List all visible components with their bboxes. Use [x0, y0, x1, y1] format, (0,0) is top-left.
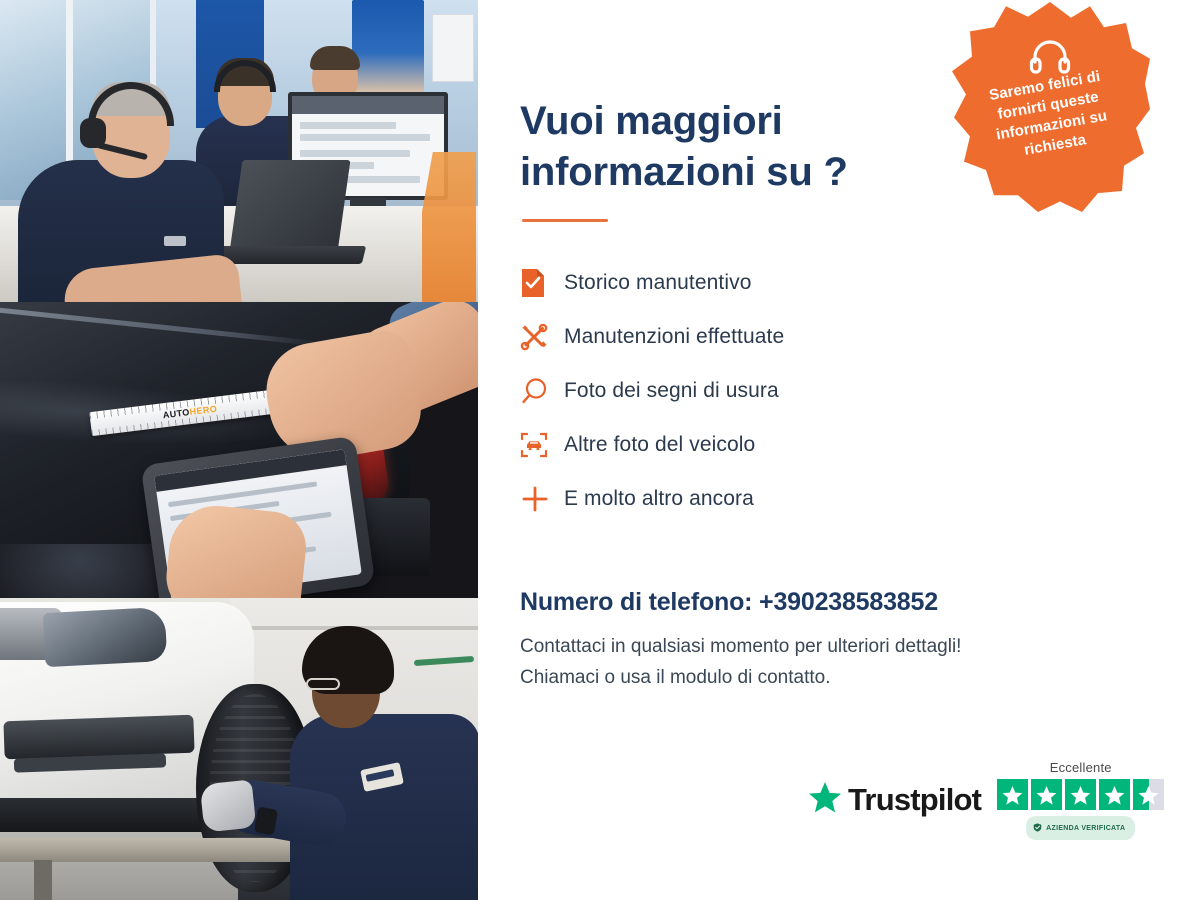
star-filled-2	[1031, 779, 1062, 810]
trustpilot-brand: Trustpilot	[808, 781, 981, 819]
feature-label: Manutenzioni effettuate	[564, 325, 784, 349]
trustpilot-rating-label: Eccellente	[1050, 760, 1112, 775]
contact-block: Numero di telefono: +390238583852 Contat…	[520, 588, 1200, 694]
tools-cross-icon	[520, 323, 564, 351]
contact-copy-line-1: Contattaci in qualsiasi momento per ulte…	[520, 632, 1140, 663]
trustpilot-wordmark: Trustpilot	[848, 782, 981, 818]
document-check-icon	[520, 268, 564, 298]
feature-item-molto-altro: E molto altro ancora	[520, 472, 1200, 526]
trustpilot-star-logo-icon	[808, 781, 842, 819]
call-center-agents-photo	[0, 0, 478, 302]
headline-line-2: informazioni su ?	[520, 150, 848, 194]
trustpilot-widget[interactable]: Trustpilot Eccellente	[808, 760, 1164, 840]
feature-label: Altre foto del veicolo	[564, 433, 755, 457]
feature-item-storico-manutentivo: Storico manutentivo	[520, 256, 1200, 310]
request-info-badge: Saremo felici di fornirti queste informa…	[950, 2, 1150, 212]
feature-label: Storico manutentivo	[564, 271, 752, 295]
photo-column: AUTOHERO	[0, 0, 478, 900]
star-filled-4	[1099, 779, 1130, 810]
magnifier-icon	[520, 377, 564, 405]
star-filled-1	[997, 779, 1028, 810]
phone-number-label[interactable]: Numero di telefono: +390238583852	[520, 588, 1200, 617]
star-half-5	[1133, 779, 1164, 810]
verified-badge-text: AZIENDA VERIFICATA	[1046, 825, 1125, 832]
vehicle-inspection-photo: AUTOHERO	[0, 302, 478, 598]
feature-label: E molto altro ancora	[564, 487, 754, 511]
content-panel: Vuoi maggiori informazioni su ? Storico …	[478, 0, 1200, 900]
car-scan-frame-icon	[520, 431, 564, 459]
title-divider	[522, 219, 608, 222]
contact-copy: Contattaci in qualsiasi momento per ulte…	[520, 632, 1140, 694]
feature-item-foto-segni-usura: Foto dei segni di usura	[520, 364, 1200, 418]
shield-check-icon	[1033, 819, 1042, 837]
feature-item-altre-foto-veicolo: Altre foto del veicolo	[520, 418, 1200, 472]
status-badge: AZIENDA VERIFICATA	[1026, 816, 1135, 840]
contact-copy-line-2: Chiamaci o usa il modulo di contatto.	[520, 663, 1140, 694]
promo-banner: AUTOHERO	[0, 0, 1200, 900]
mechanic-wheel-photo	[0, 598, 478, 900]
headline-line-1: Vuoi maggiori	[520, 99, 783, 143]
star-filled-3	[1065, 779, 1096, 810]
feature-label: Foto dei segni di usura	[564, 379, 779, 403]
trustpilot-stars	[997, 779, 1164, 810]
page-title: Vuoi maggiori informazioni su ?	[520, 96, 950, 198]
plus-icon	[520, 484, 564, 514]
trustpilot-rating: Eccellente	[997, 760, 1164, 840]
feature-item-manutenzioni-effettuate: Manutenzioni effettuate	[520, 310, 1200, 364]
feature-list: Storico manutentivo Manutenzi	[520, 256, 1200, 526]
